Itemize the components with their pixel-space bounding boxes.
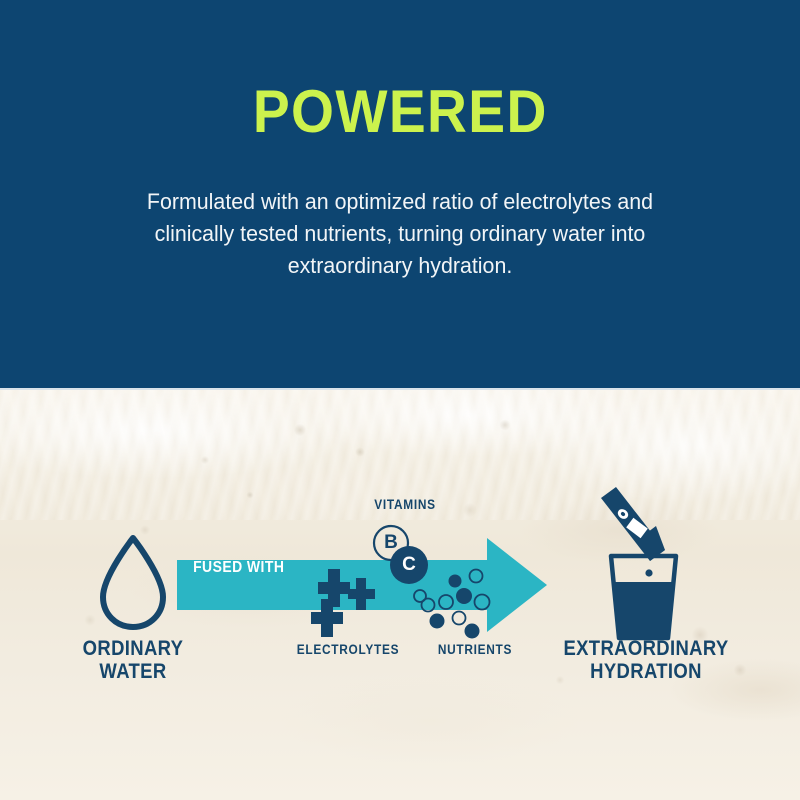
ordinary-water-label-line2: WATER: [99, 660, 166, 683]
plus-signs-icon: [311, 569, 375, 637]
diagram-graphics: [0, 390, 800, 800]
ordinary-water-label-line1: ORDINARY: [83, 637, 184, 660]
extraordinary-hydration-label: EXTRAORDINARY HYDRATION: [553, 638, 740, 683]
stick-pack-icon: [601, 487, 665, 561]
arrow-label: FUSED WITH: [193, 559, 284, 577]
process-diagram: FUSED WITH B C VITAMINS ELECTROLYTES NUT…: [0, 390, 800, 800]
extraordinary-hydration-label-line1: EXTRAORDINARY: [563, 637, 728, 660]
falling-powder-dots: [629, 569, 652, 628]
infographic-canvas: POWERED Formulated with an optimized rat…: [0, 0, 800, 800]
extraordinary-hydration-label-line2: HYDRATION: [590, 660, 702, 683]
nutrients-label: NUTRIENTS: [396, 643, 554, 658]
dot-cluster-icon: [414, 570, 490, 639]
fused-with-arrow: [177, 538, 547, 632]
ordinary-water-label: ORDINARY WATER: [57, 638, 208, 683]
glass-of-water-icon: [611, 556, 676, 638]
hero-panel: POWERED Formulated with an optimized rat…: [0, 0, 800, 390]
vitamin-c-badge-letter: C: [398, 555, 420, 574]
water-drop-icon: [103, 538, 163, 627]
page-title: POWERED: [253, 82, 548, 142]
vitamins-label: VITAMINS: [335, 498, 476, 513]
vitamin-b-badge-letter: B: [380, 533, 402, 552]
hero-subtitle: Formulated with an optimized ratio of el…: [106, 186, 695, 282]
